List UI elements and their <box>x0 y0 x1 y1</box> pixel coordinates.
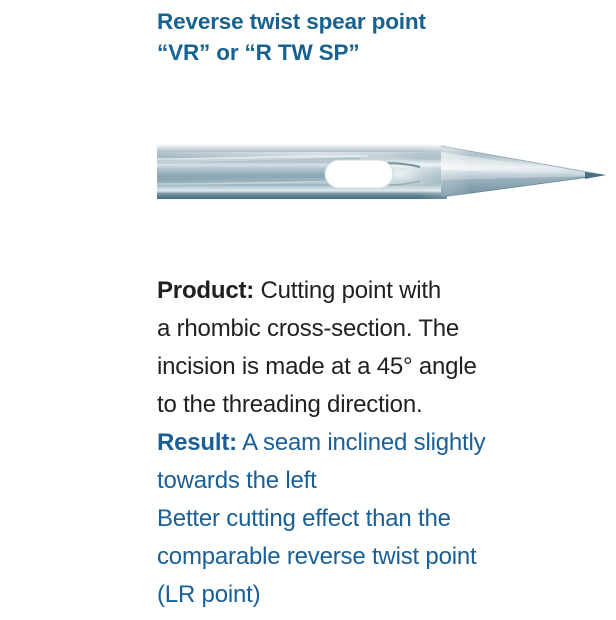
body-line-text: comparable reverse twist point <box>157 543 476 570</box>
body-line: towards the left <box>157 462 577 500</box>
needle-illustration <box>0 118 616 218</box>
body-line-text: incision is made at a 45° angle <box>157 353 477 380</box>
body-line-text: a rhombic cross-section. The <box>157 315 459 342</box>
body-line-text: to the threading direction. <box>157 391 422 418</box>
page-title: Reverse twist spear point “VR” or “R TW … <box>157 6 587 68</box>
body-line: a rhombic cross-section. The <box>157 310 577 348</box>
needle-image <box>0 118 616 218</box>
description-text: Product: Cutting point with a rhombic cr… <box>157 272 577 614</box>
body-line: comparable reverse twist point <box>157 538 577 576</box>
body-line: incision is made at a 45° angle <box>157 348 577 386</box>
body-line: Result: A seam inclined slightly <box>157 424 577 462</box>
needle-eye <box>325 160 393 188</box>
body-line: to the threading direction. <box>157 386 577 424</box>
page-title-line-1: Reverse twist spear point <box>157 6 587 37</box>
body-line-text: (LR point) <box>157 581 260 608</box>
body-line-text: Cutting point with <box>254 277 441 304</box>
body-line: Better cutting effect than the <box>157 500 577 538</box>
body-line: Product: Cutting point with <box>157 272 577 310</box>
page-title-line-2: “VR” or “R TW SP” <box>157 37 587 68</box>
body-line-text: Better cutting effect than the <box>157 505 451 532</box>
body-line-text: A seam inclined slightly <box>237 429 485 456</box>
result-label: Result: <box>157 429 237 456</box>
body-line: (LR point) <box>157 576 577 614</box>
body-line-text: towards the left <box>157 467 317 494</box>
product-label: Product: <box>157 277 254 304</box>
